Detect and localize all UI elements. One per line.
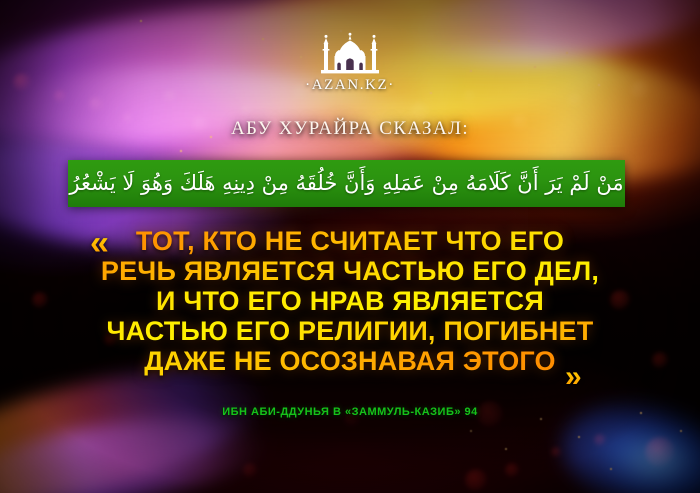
mosque-icon [318,30,382,76]
ember-spark [180,150,182,152]
bokeh-dot [505,463,519,477]
source-attribution: ИБН АБИ-ДДУНЬЯ В «ЗАММУЛЬ-КАЗИБ» 94 [0,406,700,418]
arabic-hadith-text: مَنْ لَمْ يَرَ أَنَّ كَلَامَهُ مِنْ عَمَ… [68,173,625,194]
ribbon-blue-swirl [602,424,700,493]
bokeh-dot [89,97,103,111]
logo-wordmark: ·AZAN.KZ· [305,77,395,94]
quote-close-mark: » [565,362,582,392]
site-logo[interactable]: ·AZAN.KZ· [0,30,700,94]
quote-open-mark: « [90,226,109,260]
bokeh-dot [551,447,561,457]
quote-line: ДАЖЕ НЕ ОСОЗНАВАЯ ЭТОГО [0,346,700,376]
ember-spark [540,418,542,420]
ember-spark [578,436,580,438]
arabic-hadith-band: مَنْ لَمْ يَرَ أَنَّ كَلَامَهُ مِنْ عَمَ… [68,160,625,207]
bokeh-dot [241,105,251,115]
bokeh-dot [465,469,487,491]
ember-spark [470,430,472,432]
bokeh-dot [594,434,606,446]
ember-spark [610,468,612,470]
ribbon-blue-bottom-right [551,387,700,493]
ember-spark [680,430,682,432]
bokeh-dot [568,93,582,107]
narrator-heading: АБУ ХУРАЙРА СКАЗАЛ: [0,118,700,140]
bokeh-dot [645,437,675,467]
ember-spark [140,20,142,22]
bokeh-dot [243,463,257,477]
ember-spark [505,448,507,450]
poster: ·AZAN.KZ· АБУ ХУРАЙРА СКАЗАЛ: مَنْ لَمْ … [0,0,700,493]
quote-line: И ЧТО ЕГО НРАВ ЯВЛЯЕТСЯ [0,286,700,316]
quote-line: ЧАСТЬЮ ЕГО РЕЛИГИИ, ПОГИБНЕТ [0,316,700,346]
